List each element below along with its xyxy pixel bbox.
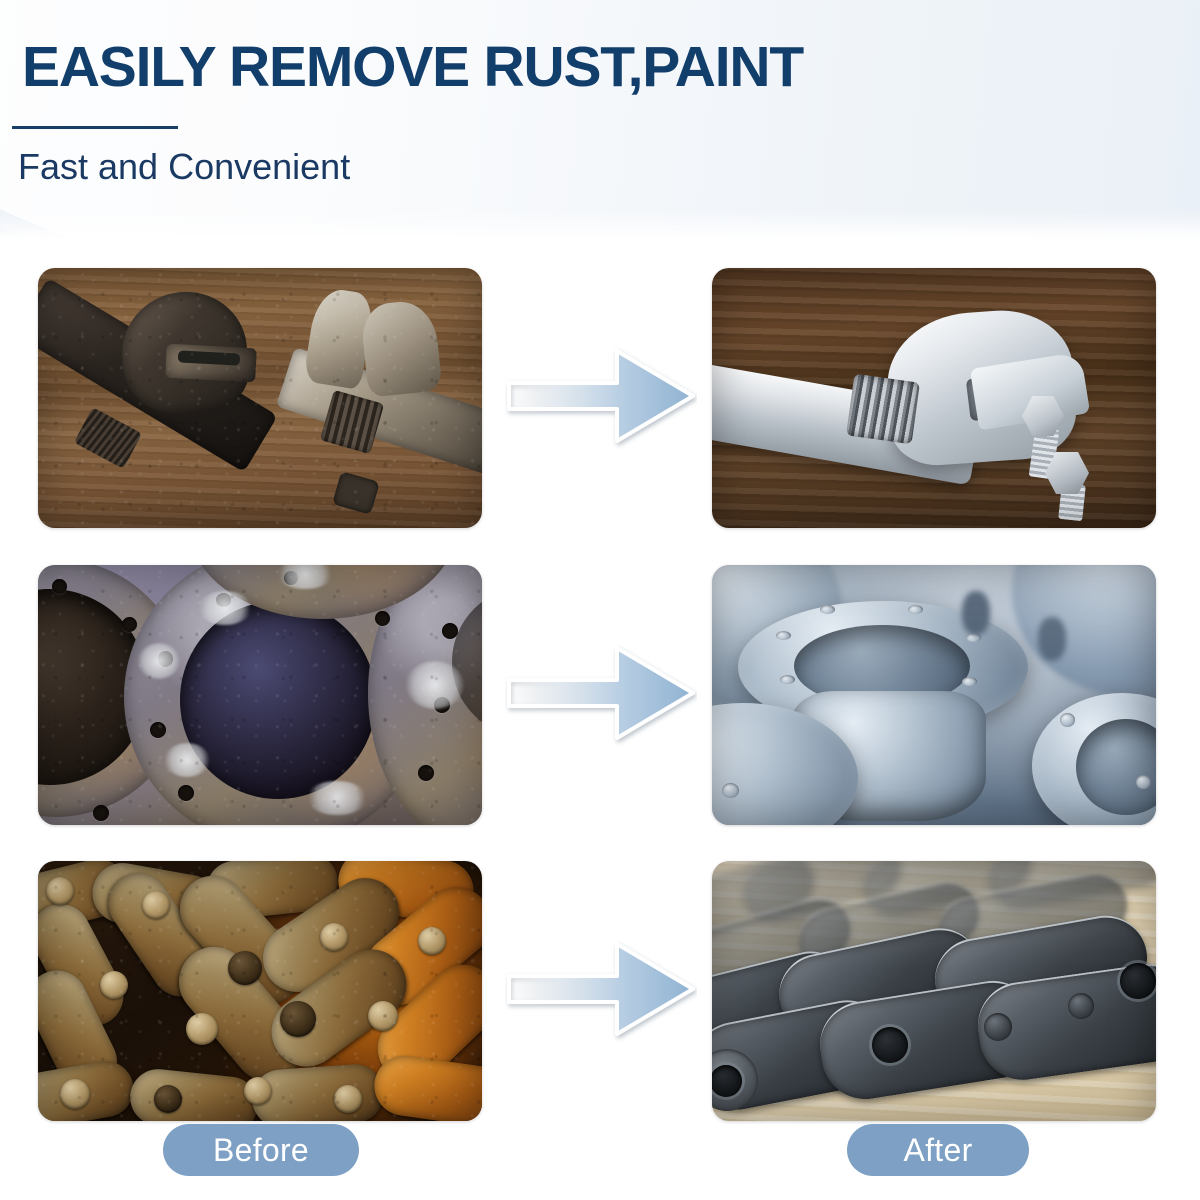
- rusty-flanges-image: [38, 565, 482, 825]
- wrench-knurl-dark: [74, 407, 142, 469]
- flange-bolt: [780, 675, 795, 684]
- flange-bolt: [776, 631, 791, 640]
- label-after: After: [847, 1124, 1029, 1176]
- clean-chain-image: [712, 861, 1156, 1121]
- chain-pin: [154, 1085, 182, 1113]
- product-infographic: EASILY REMOVE RUST,PAINT Fast and Conven…: [0, 0, 1200, 1200]
- flange-bolt-hole: [52, 579, 67, 594]
- flange-bolt-hole: [442, 623, 458, 639]
- oxidation-patch: [406, 661, 464, 709]
- background-flange-blur: [1012, 565, 1156, 695]
- flange-bolt-hole: [150, 722, 166, 738]
- photo-after-chain: [712, 861, 1156, 1121]
- flange-bolt-hole: [418, 765, 434, 781]
- clean-wrench-image: [712, 268, 1156, 528]
- background-flange-hole: [1038, 617, 1066, 661]
- flange-bolt: [1060, 713, 1075, 727]
- wrench-lower-jaw-rusty: [359, 298, 442, 397]
- clean-flanges-image: [712, 565, 1156, 825]
- chain-pin: [368, 1001, 398, 1031]
- chain-pin: [984, 1013, 1012, 1041]
- photo-before-wrenches: [38, 268, 482, 528]
- oxidation-patch: [306, 781, 368, 815]
- before-after-grid: [0, 0, 1200, 1200]
- chain-pin: [280, 1001, 316, 1037]
- photo-after-flanges: [712, 565, 1156, 825]
- chrome-wrench-thumbwheel: [846, 374, 920, 445]
- label-before: Before: [163, 1124, 359, 1176]
- flange-bolt: [908, 605, 923, 614]
- rusty-wrenches-image: [38, 268, 482, 528]
- arrow-right-icon: [505, 930, 697, 1048]
- oxidation-patch: [164, 743, 210, 777]
- background-flange-hole: [962, 591, 990, 635]
- photo-before-flanges: [38, 565, 482, 825]
- chain-pin: [418, 927, 446, 955]
- wrench-hole-rusty: [332, 471, 380, 515]
- chain-pin: [1068, 993, 1094, 1019]
- photo-before-chain: [38, 861, 482, 1121]
- flange-bolt: [820, 605, 835, 614]
- chain-pin: [142, 891, 170, 919]
- oxidation-patch: [138, 643, 180, 679]
- arrow-right-icon: [505, 337, 697, 455]
- photo-after-wrench: [712, 268, 1156, 528]
- oxidation-patch: [198, 591, 252, 625]
- arrow-right-icon: [505, 634, 697, 752]
- chain-roller-hole: [872, 1027, 908, 1063]
- rusty-chain-image: [38, 861, 482, 1121]
- chain-pin: [186, 1013, 218, 1045]
- flange-bolt: [722, 783, 739, 798]
- chain-pin: [244, 1077, 272, 1105]
- flange-bolt-hole: [375, 611, 390, 626]
- flange-bolt-hole: [93, 805, 109, 821]
- flange-bolt: [962, 677, 977, 686]
- chain-pin: [334, 1085, 362, 1113]
- flange-bolt-hole: [122, 617, 137, 632]
- chain-pin: [228, 951, 262, 985]
- rusty-flange-bore-center: [180, 601, 376, 799]
- chain-pin: [46, 877, 74, 905]
- chain-pin: [100, 971, 128, 999]
- chain-roller-hole: [1120, 963, 1156, 999]
- chain-pin: [60, 1079, 90, 1109]
- chain-pin: [320, 923, 348, 951]
- flange-bolt: [1136, 775, 1151, 789]
- flange-bolt-hole: [178, 785, 194, 801]
